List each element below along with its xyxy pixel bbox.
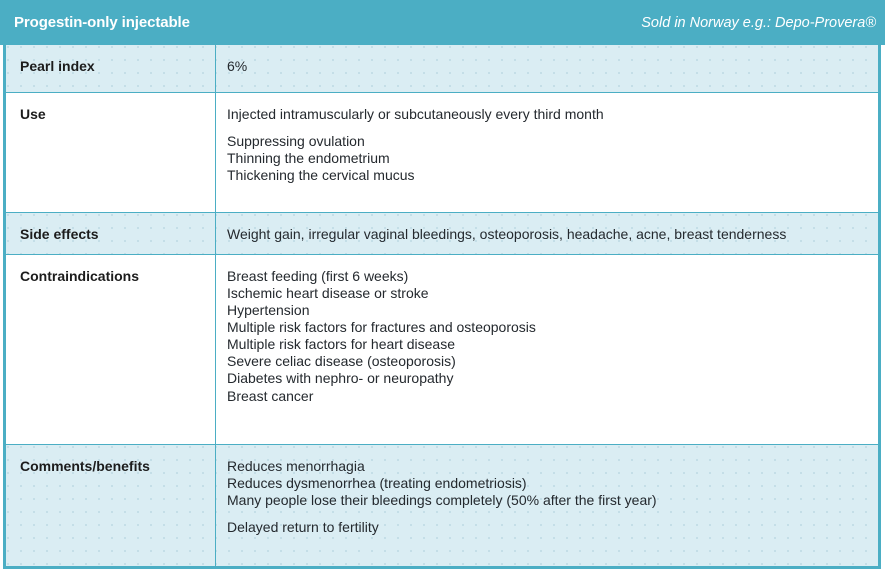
value-line: Weight gain, irregular vaginal bleedings… [227,226,870,243]
value-line: Delayed return to fertility [227,519,870,536]
table-header-note: Sold in Norway e.g.: Depo-Provera® [641,15,876,31]
value-line: Thickening the cervical mucus [227,167,870,184]
table-row: Contraindications Breast feeding (first … [6,255,878,445]
table-header: Progestin-only injectable Sold in Norway… [0,0,885,45]
contraceptive-fact-table: Progestin-only injectable Sold in Norway… [0,0,885,569]
row-value-contraindications: Breast feeding (first 6 weeks) Ischemic … [216,255,878,444]
value-line: Hypertension [227,302,870,319]
table-row: Pearl index 6% [6,45,878,93]
table-row: Side effects Weight gain, irregular vagi… [6,213,878,255]
table-row: Comments/benefits Reduces menorrhagia Re… [6,445,878,566]
value-line: Severe celiac disease (osteoporosis) [227,353,870,370]
row-label-comments-benefits: Comments/benefits [6,445,216,566]
row-value-pearl-index: 6% [216,45,878,92]
table-title: Progestin-only injectable [14,14,190,31]
row-label-pearl-index: Pearl index [6,45,216,92]
value-line: Reduces menorrhagia [227,458,870,475]
value-line: Thinning the endometrium [227,150,870,167]
value-line: Reduces dysmenorrhea (treating endometri… [227,475,870,492]
row-value-comments-benefits: Reduces menorrhagia Reduces dysmenorrhea… [216,445,878,566]
table-body: Pearl index 6% Use Injected intramuscula… [3,45,881,569]
value-line: Breast feeding (first 6 weeks) [227,268,870,285]
value-line: Multiple risk factors for fractures and … [227,319,870,336]
value-line: Many people lose their bleedings complet… [227,492,870,509]
value-line: Diabetes with nephro- or neuropathy [227,370,870,387]
row-label-contraindications: Contraindications [6,255,216,444]
row-label-side-effects: Side effects [6,213,216,254]
row-label-use: Use [6,93,216,212]
row-value-side-effects: Weight gain, irregular vaginal bleedings… [216,213,878,254]
value-line: Multiple risk factors for heart disease [227,336,870,353]
value-line: 6% [227,58,870,75]
value-line: Injected intramuscularly or subcutaneous… [227,106,870,123]
row-value-use: Injected intramuscularly or subcutaneous… [216,93,878,212]
table-row: Use Injected intramuscularly or subcutan… [6,93,878,213]
value-line: Breast cancer [227,388,870,405]
value-line: Suppressing ovulation [227,133,870,150]
value-line: Ischemic heart disease or stroke [227,285,870,302]
